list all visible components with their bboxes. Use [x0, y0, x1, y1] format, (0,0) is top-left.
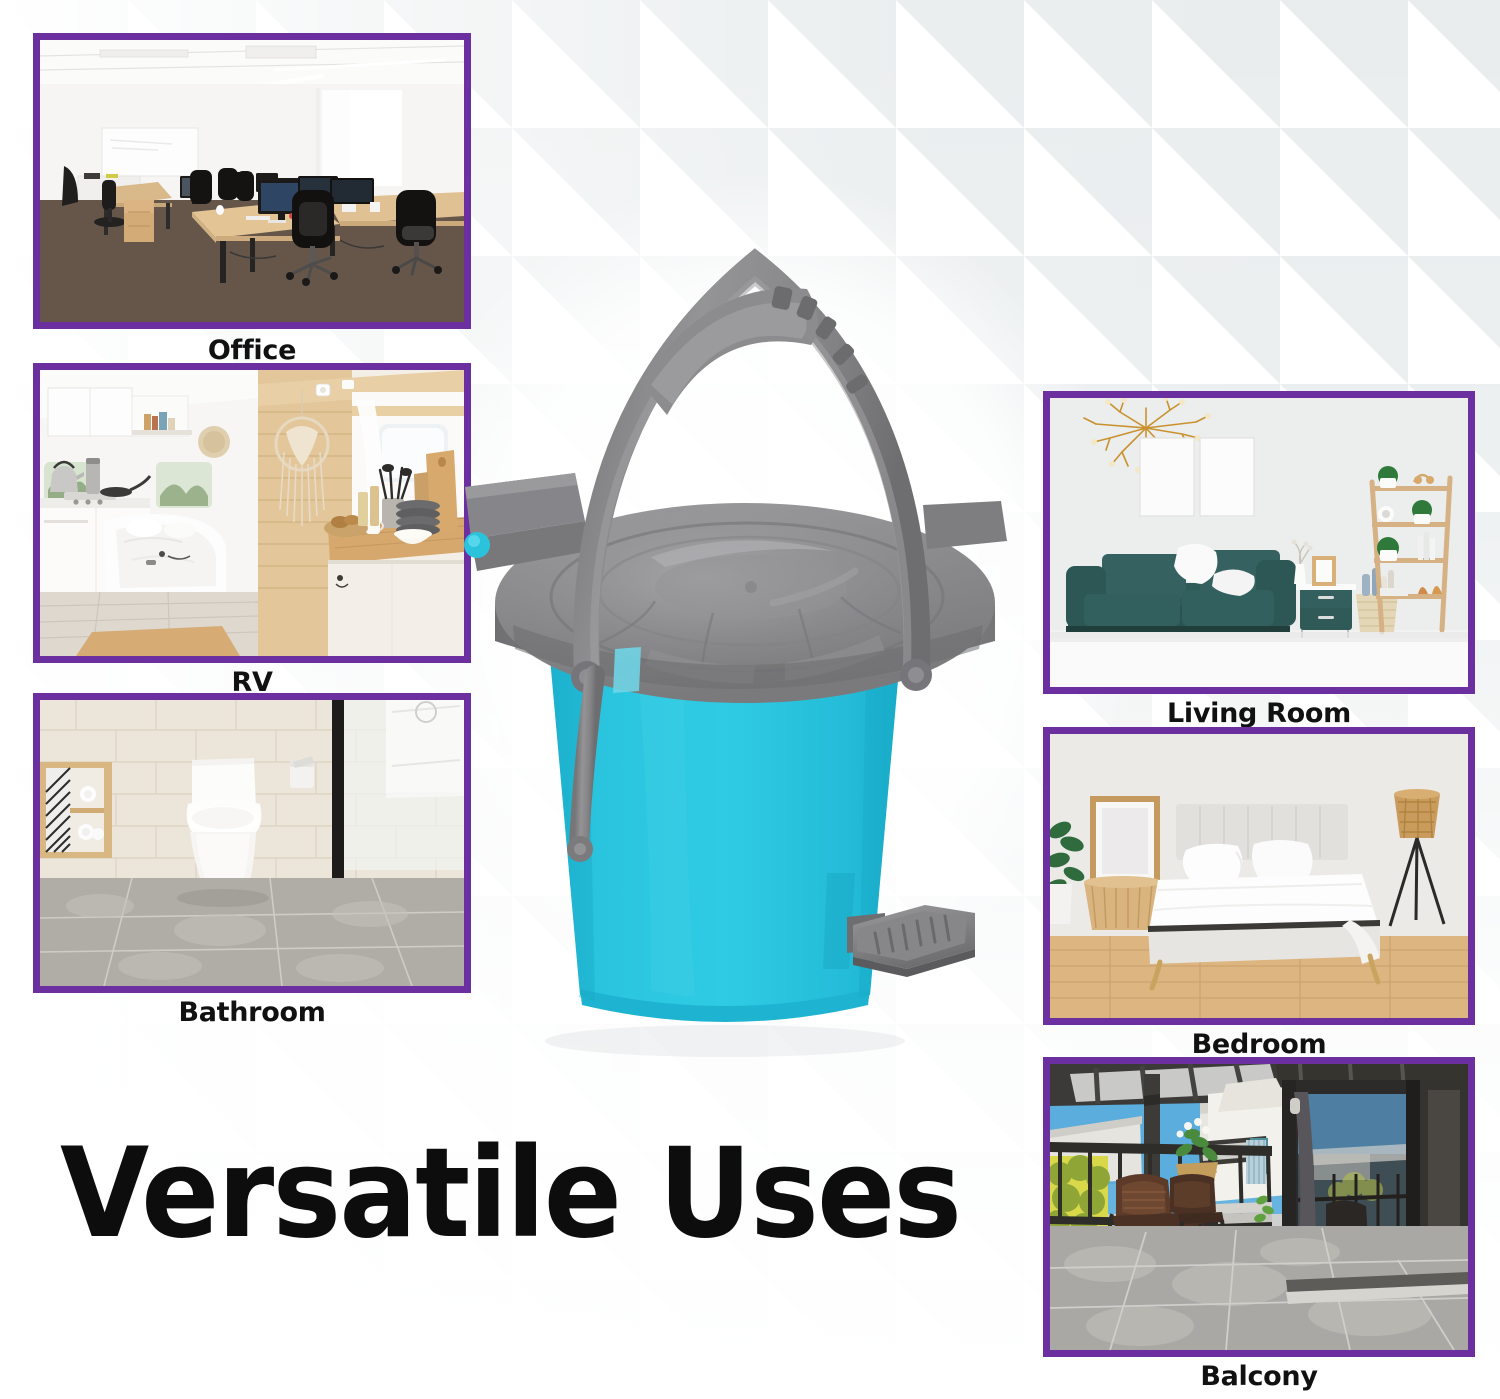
page-title: Versatile Uses	[60, 1131, 960, 1257]
office-photo	[40, 40, 464, 322]
panel-balcony-frame	[1043, 1057, 1475, 1357]
bedroom-photo	[1050, 734, 1468, 1018]
balcony-photo	[1050, 1064, 1468, 1350]
panel-living-room-frame	[1043, 391, 1475, 694]
marketing-image-canvas: Office	[0, 0, 1500, 1399]
bathroom-photo	[40, 700, 464, 986]
panel-rv-frame	[33, 363, 471, 663]
panel-office-frame	[33, 33, 471, 329]
rv-photo	[40, 370, 464, 656]
panel-living-room-label: Living Room	[1043, 698, 1475, 729]
panel-balcony[interactable]: Balcony	[1043, 1057, 1475, 1357]
panel-bedroom-frame	[1043, 727, 1475, 1025]
panel-office-label: Office	[33, 335, 471, 366]
panel-bedroom-label: Bedroom	[1043, 1029, 1475, 1060]
panel-bathroom-frame	[33, 693, 471, 993]
panel-bathroom[interactable]: Bathroom	[33, 693, 471, 993]
panel-bedroom[interactable]: Bedroom	[1043, 727, 1475, 1025]
panel-living-room[interactable]: Living Room	[1043, 391, 1475, 694]
foot-pedal	[847, 905, 975, 977]
panel-balcony-label: Balcony	[1043, 1361, 1475, 1392]
panel-office[interactable]: Office	[33, 33, 471, 329]
panel-bathroom-label: Bathroom	[33, 997, 471, 1028]
living-room-photo	[1050, 398, 1468, 687]
pedal-dustbin-product-image	[455, 205, 1055, 1065]
panel-rv[interactable]: RV	[33, 363, 471, 663]
